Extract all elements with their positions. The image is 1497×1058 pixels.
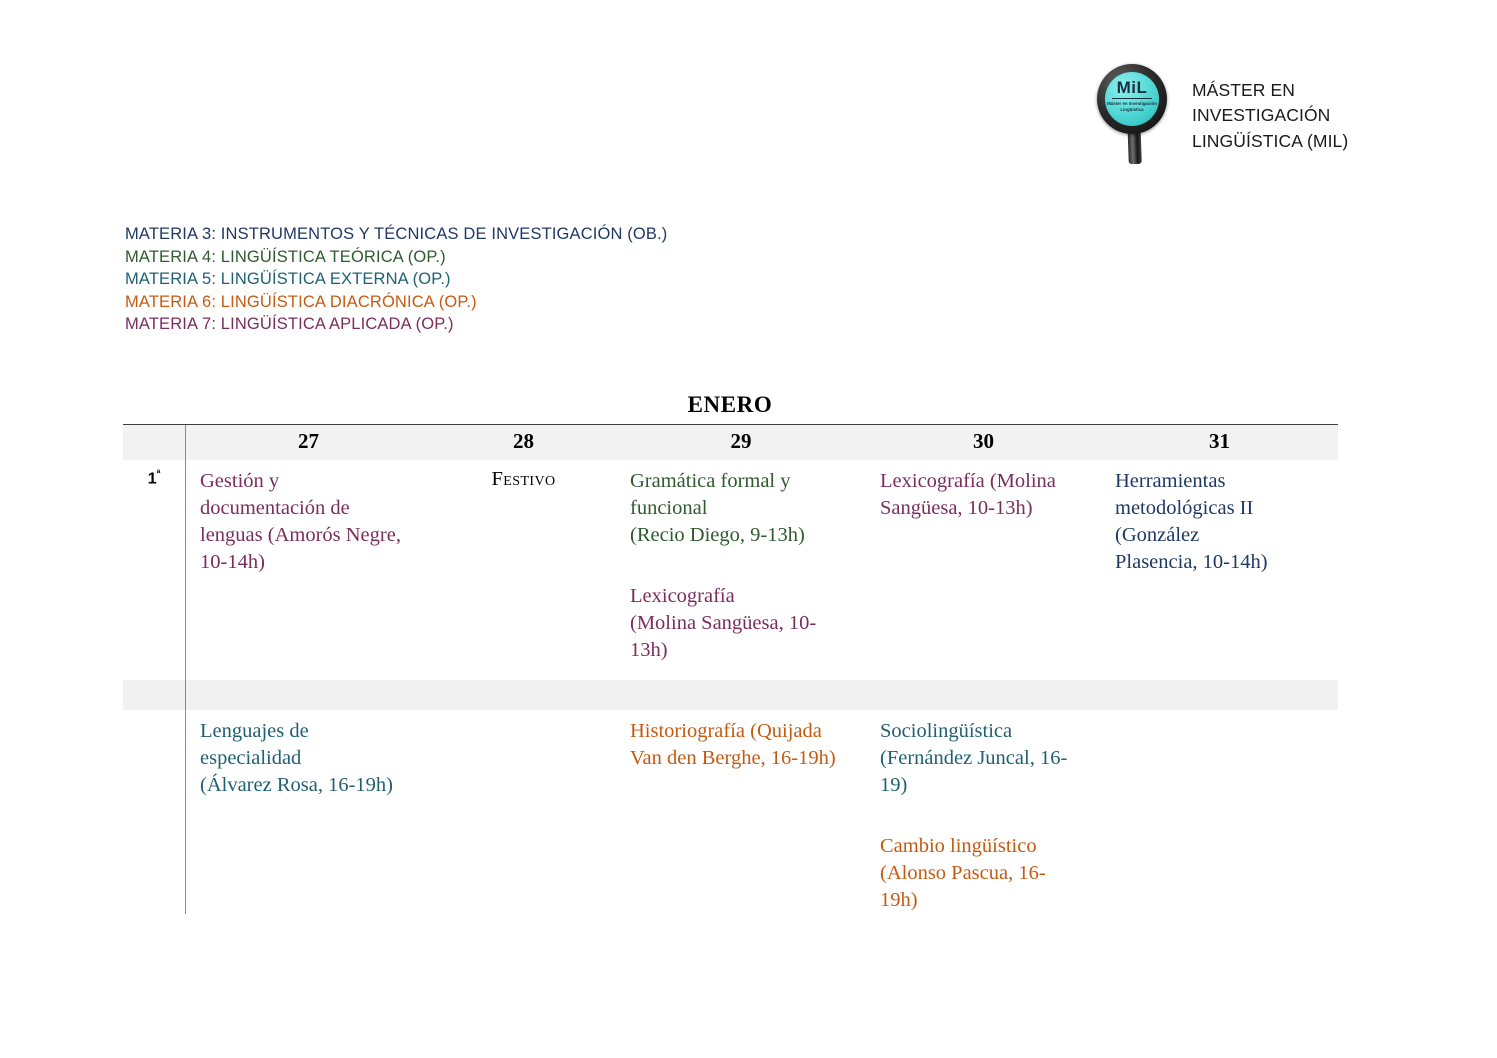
cell-r2-d31	[1101, 710, 1338, 914]
cell-r2-d28	[431, 710, 616, 914]
header-day-30: 30	[866, 425, 1101, 461]
cell-r2-d30: Sociolingüística (Fernández Juncal, 16- …	[866, 710, 1101, 914]
magnifier-ring-icon: MiL Máster en Investigación Lingüística	[1097, 64, 1167, 134]
legend-item-materia-3: MATERIA 3: INSTRUMENTOS Y TÉCNICAS DE IN…	[125, 223, 667, 246]
month-title: ENERO	[123, 392, 1337, 418]
separator-d30	[866, 680, 1101, 710]
materia-legend: MATERIA 3: INSTRUMENTOS Y TÉCNICAS DE IN…	[125, 223, 667, 336]
holiday-label: Festivo	[492, 468, 556, 490]
header-rotation-blank	[123, 425, 186, 461]
rotation-ordinal: ª	[157, 469, 161, 480]
separator-rotation	[123, 680, 186, 710]
cell-r1-d27: Gestión y documentación de lenguas (Amor…	[186, 460, 432, 680]
cell-r1-d31: Herramientas metodológicas II (González …	[1101, 460, 1338, 680]
legend-item-materia-5: MATERIA 5: LINGÜÍSTICA EXTERNA (OP.)	[125, 268, 667, 291]
course-entry: Lenguajes de especialidad (Álvarez Rosa,…	[200, 718, 417, 799]
legend-item-materia-6: MATERIA 6: LINGÜÍSTICA DIACRÓNICA (OP.)	[125, 291, 667, 314]
header-day-31: 31	[1101, 425, 1338, 461]
cell-r1-d29: Gramática formal y funcional (Recio Dieg…	[616, 460, 866, 680]
course-entry: Lexicografía (Molina Sangüesa, 10-13h)	[880, 468, 1087, 522]
course-entry: Gramática formal y funcional (Recio Dieg…	[630, 468, 852, 549]
header-day-27: 27	[186, 425, 432, 461]
rotation-label-1: 1ª	[123, 460, 186, 680]
cell-r1-d28: Festivo	[431, 460, 616, 680]
course-entry: Lexicografía (Molina Sangüesa, 10-13h)	[630, 583, 852, 664]
cell-r2-d29: Historiografía (Quijada Van den Berghe, …	[616, 710, 866, 914]
table-header-row: 27 28 29 30 31	[123, 425, 1338, 461]
legend-item-materia-7: MATERIA 7: LINGÜÍSTICA APLICADA (OP.)	[125, 313, 667, 336]
schedule-table: 27 28 29 30 31 1ª Gestión y documentació…	[123, 424, 1338, 914]
magnifier-lens-icon: MiL Máster en Investigación Lingüística	[1105, 72, 1159, 126]
separator-d29	[616, 680, 866, 710]
rotation-number: 1	[148, 470, 157, 487]
header-day-29: 29	[616, 425, 866, 461]
logo-divider	[1112, 98, 1152, 99]
course-entry: Sociolingüística (Fernández Juncal, 16- …	[880, 718, 1087, 799]
calendar-block: ENERO 27 28 29 30 31 1ª Gestión y docume…	[123, 392, 1337, 914]
table-row-rotation-2: Lenguajes de especialidad (Álvarez Rosa,…	[123, 710, 1338, 914]
header-day-28: 28	[431, 425, 616, 461]
legend-item-materia-4: MATERIA 4: LINGÜÍSTICA TEÓRICA (OP.)	[125, 246, 667, 269]
cell-r2-d27: Lenguajes de especialidad (Álvarez Rosa,…	[186, 710, 432, 914]
logo-subtext: Máster en Investigación Lingüística	[1105, 101, 1159, 113]
cell-r1-d30: Lexicografía (Molina Sangüesa, 10-13h)	[866, 460, 1101, 680]
table-row-rotation-1: 1ª Gestión y documentación de lenguas (A…	[123, 460, 1338, 680]
course-entry: Historiografía (Quijada Van den Berghe, …	[630, 718, 852, 772]
course-entry: Gestión y documentación de lenguas (Amor…	[200, 468, 417, 576]
separator-d27	[186, 680, 432, 710]
rotation-label-2	[123, 710, 186, 914]
separator-d31	[1101, 680, 1338, 710]
separator-d28	[431, 680, 616, 710]
brand-logo-block: MiL Máster en Investigación Lingüística …	[1088, 58, 1348, 166]
brand-title: MÁSTER EN INVESTIGACIÓN LINGÜÍSTICA (MIL…	[1192, 78, 1348, 154]
course-entry: Herramientas metodológicas II (González …	[1115, 468, 1324, 576]
logo-mil-text: MiL	[1117, 79, 1148, 96]
row-separator-band	[123, 680, 1338, 710]
course-entry: Cambio lingüístico (Alonso Pascua, 16- 1…	[880, 833, 1087, 914]
magnifier-logo-icon: MiL Máster en Investigación Lingüística	[1088, 58, 1176, 166]
